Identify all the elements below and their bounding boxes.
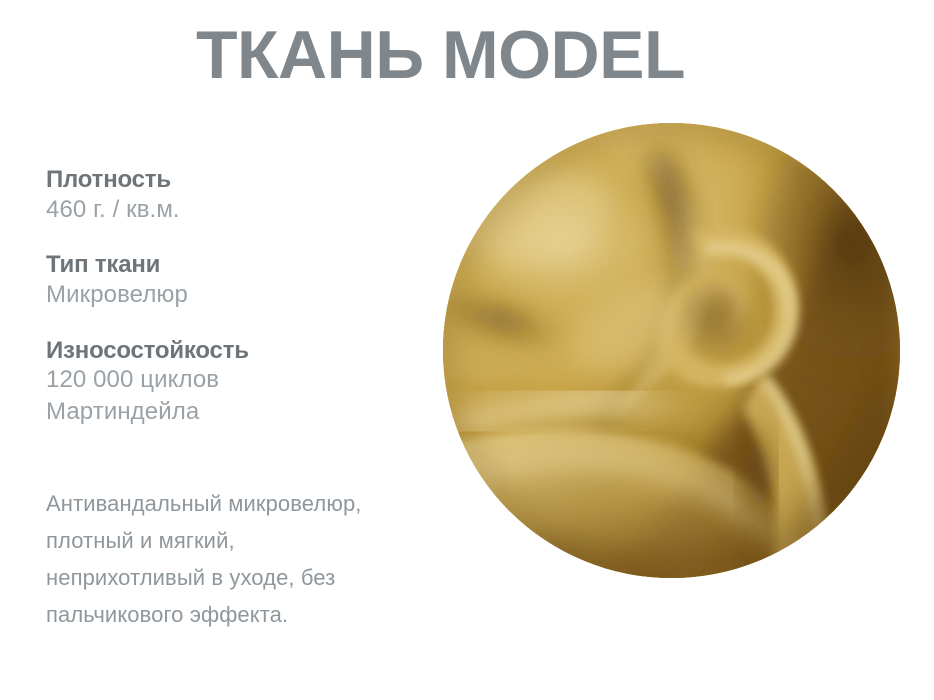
spec-item-fabric-type: Тип ткани Микровелюр — [46, 251, 426, 310]
spec-label-fabric-type: Тип ткани — [46, 251, 426, 279]
description-line-1: Антивандальный микровелюр, — [46, 485, 446, 522]
spec-label-density: Плотность — [46, 166, 426, 194]
spec-value-abrasion-standard: Мартиндейла — [46, 396, 426, 428]
fabric-velvet-illustration — [443, 123, 900, 578]
spec-label-abrasion: Износостойкость — [46, 337, 426, 365]
page-title: ТКАНЬ MODEL — [196, 21, 685, 89]
spec-value-density: 460 г. / кв.м. — [46, 194, 426, 226]
fabric-photo-circle — [443, 123, 900, 578]
description-line-2: плотный и мягкий, — [46, 522, 446, 559]
spec-item-abrasion: Износостойкость 120 000 циклов Мартиндей… — [46, 337, 426, 428]
spec-value-abrasion-cycles: 120 000 циклов — [46, 364, 426, 396]
description-line-3: неприхотливый в уходе, без — [46, 559, 446, 596]
spec-list: Плотность 460 г. / кв.м. Тип ткани Микро… — [46, 166, 426, 427]
spec-value-fabric-type: Микровелюр — [46, 279, 426, 311]
fabric-spec-slide: ТКАНЬ MODEL Плотность 460 г. / кв.м. Тип… — [0, 0, 934, 700]
spec-item-density: Плотность 460 г. / кв.м. — [46, 166, 426, 225]
description-paragraph: Антивандальный микровелюр, плотный и мяг… — [46, 485, 446, 633]
description-line-4: пальчикового эффекта. — [46, 596, 446, 633]
